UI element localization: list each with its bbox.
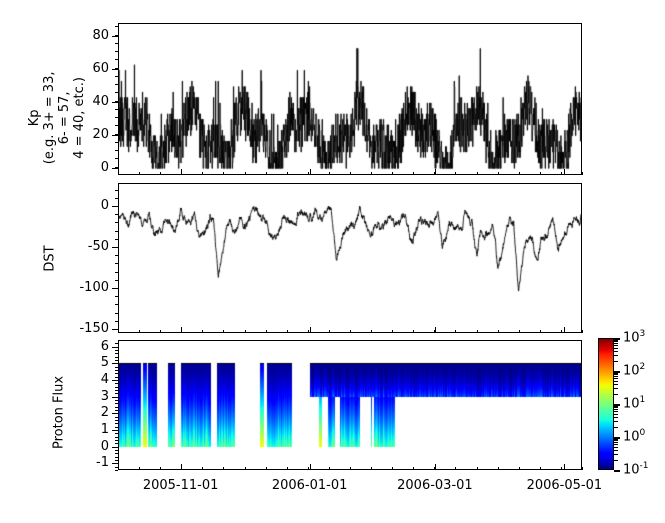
axis-tick xyxy=(115,142,118,143)
axis-tick xyxy=(115,296,118,297)
axis-tick xyxy=(266,330,267,333)
axis-tick xyxy=(115,377,118,378)
colorbar-tick-label: 100 xyxy=(623,429,645,443)
axis-tick xyxy=(115,420,118,421)
colorbar-minor-tick xyxy=(614,421,618,422)
axis-tick xyxy=(181,330,182,333)
axis-tick xyxy=(115,397,118,398)
axis-tick xyxy=(115,255,118,256)
axis-tick xyxy=(115,457,118,458)
axis-tick xyxy=(115,417,118,418)
axis-tick xyxy=(245,172,246,175)
axis-tick xyxy=(561,172,562,175)
axis-tick xyxy=(434,330,435,333)
dst-series-canvas xyxy=(119,184,581,332)
axis-tick xyxy=(115,280,118,281)
axis-tick xyxy=(455,467,456,470)
axis-tick xyxy=(115,117,118,118)
colorbar-frame xyxy=(598,338,614,470)
axis-tick-label: 4 xyxy=(101,373,109,386)
axis-tick xyxy=(564,464,565,470)
axis-tick xyxy=(115,190,118,191)
axis-tick xyxy=(115,367,118,368)
axis-tick xyxy=(308,172,309,175)
axis-tick xyxy=(350,172,351,175)
axis-tick xyxy=(329,330,330,333)
axis-tick-label: 2 xyxy=(101,406,109,419)
axis-tick xyxy=(115,35,118,36)
axis-tick xyxy=(115,313,118,314)
colorbar-minor-tick xyxy=(614,388,618,389)
kp-axis-title: Kp (e.g. 3+ = 33, 6- = 57, 4 = 40, etc.) xyxy=(28,38,88,198)
axis-tick xyxy=(115,347,118,348)
colorbar-minor-tick xyxy=(614,394,618,395)
colorbar-minor-tick xyxy=(614,439,618,440)
dst-axis-title-text: DST xyxy=(44,228,59,288)
axis-tick xyxy=(115,321,118,322)
axis-tick xyxy=(477,172,478,175)
axis-tick-label: 0 xyxy=(101,440,109,453)
axis-tick-label: -1 xyxy=(96,456,109,469)
axis-tick-label: -100 xyxy=(79,281,109,294)
proton-flux-axis-title-text: Proton Flux xyxy=(53,360,68,464)
axis-tick xyxy=(329,172,330,175)
axis-tick-label: 3 xyxy=(101,390,109,403)
axis-tick xyxy=(310,169,311,175)
axis-tick xyxy=(498,467,499,470)
axis-tick xyxy=(115,26,118,27)
axis-tick xyxy=(498,330,499,333)
axis-tick xyxy=(582,330,583,333)
axis-tick-label: 80 xyxy=(92,29,109,42)
kp-series-canvas xyxy=(119,24,581,174)
axis-tick xyxy=(115,350,118,351)
colorbar-minor-tick xyxy=(614,381,618,382)
axis-tick xyxy=(564,327,565,333)
colorbar-tick-label: 103 xyxy=(623,330,645,344)
colorbar-tick-label: 101 xyxy=(623,396,645,410)
colorbar-minor-tick xyxy=(614,376,618,377)
axis-tick xyxy=(287,330,288,333)
axis-tick xyxy=(310,464,311,470)
axis-tick xyxy=(115,380,118,381)
axis-tick xyxy=(139,330,140,333)
colorbar-minor-tick xyxy=(614,373,618,374)
axis-tick xyxy=(350,330,351,333)
axis-tick-label: 20 xyxy=(92,128,109,141)
axis-tick xyxy=(371,330,372,333)
axis-tick xyxy=(181,172,182,175)
axis-tick xyxy=(434,467,435,470)
axis-tick xyxy=(287,467,288,470)
axis-tick-label: 40 xyxy=(92,95,109,108)
axis-tick xyxy=(115,463,118,464)
colorbar-minor-tick xyxy=(614,454,618,455)
axis-tick xyxy=(498,172,499,175)
axis-tick xyxy=(115,373,118,374)
axis-tick xyxy=(287,172,288,175)
axis-tick xyxy=(115,433,118,434)
axis-tick xyxy=(115,370,118,371)
axis-tick xyxy=(115,383,118,384)
axis-tick xyxy=(118,172,119,175)
axis-tick xyxy=(115,68,118,69)
figure-root: 020406080 Kp (e.g. 3+ = 33, 6- = 57, 4 =… xyxy=(0,0,665,523)
axis-tick xyxy=(561,330,562,333)
axis-tick xyxy=(519,172,520,175)
axis-tick xyxy=(115,84,118,85)
axis-tick xyxy=(115,272,118,273)
axis-tick-label: 0 xyxy=(101,161,109,174)
colorbar-minor-tick xyxy=(614,427,618,428)
axis-tick xyxy=(582,172,583,175)
colorbar-tick-label: 10-1 xyxy=(623,462,649,476)
proton-flux-spectrogram-canvas xyxy=(119,341,581,469)
axis-tick xyxy=(115,423,118,424)
axis-tick xyxy=(350,467,351,470)
colorbar-minor-tick xyxy=(614,340,618,341)
proton-flux-axis-title: Proton Flux xyxy=(53,360,68,464)
axis-tick xyxy=(392,172,393,175)
colorbar-minor-tick xyxy=(614,406,618,407)
colorbar-minor-tick xyxy=(614,450,618,451)
axis-tick xyxy=(413,330,414,333)
axis-tick xyxy=(540,330,541,333)
axis-tick xyxy=(181,467,182,470)
axis-tick-label: -150 xyxy=(79,322,109,335)
axis-tick xyxy=(413,172,414,175)
axis-tick xyxy=(266,467,267,470)
axis-tick xyxy=(115,101,118,102)
axis-tick xyxy=(115,427,118,428)
colorbar-minor-tick xyxy=(614,348,618,349)
axis-tick xyxy=(308,330,309,333)
axis-tick xyxy=(371,172,372,175)
axis-tick xyxy=(115,109,118,110)
colorbar-minor-tick xyxy=(614,447,618,448)
axis-tick xyxy=(115,363,118,364)
x-axis-tick-label: 2006-01-01 xyxy=(260,479,360,492)
kp-axis-title-line-1: (e.g. 3+ = 33, xyxy=(43,38,58,198)
colorbar-minor-tick xyxy=(614,417,618,418)
colorbar-minor-tick xyxy=(614,343,618,344)
colorbar-tick-label: 102 xyxy=(623,363,645,377)
kp-axis-title-line-3: 4 = 40, etc.) xyxy=(73,38,88,198)
axis-tick xyxy=(477,330,478,333)
axis-tick xyxy=(115,407,118,408)
axis-tick xyxy=(392,467,393,470)
axis-tick xyxy=(139,172,140,175)
axis-tick xyxy=(115,390,118,391)
axis-tick xyxy=(519,467,520,470)
axis-tick xyxy=(115,125,118,126)
axis-tick xyxy=(115,59,118,60)
axis-tick xyxy=(115,239,118,240)
axis-tick xyxy=(115,214,118,215)
axis-tick xyxy=(115,92,118,93)
axis-tick-label: 1 xyxy=(101,423,109,436)
axis-tick xyxy=(160,467,161,470)
axis-tick xyxy=(202,467,203,470)
colorbar-minor-tick xyxy=(614,378,618,379)
colorbar-minor-tick xyxy=(614,361,618,362)
axis-tick-label: 0 xyxy=(101,199,109,212)
axis-tick xyxy=(477,467,478,470)
axis-tick xyxy=(115,470,118,471)
axis-tick xyxy=(223,330,224,333)
axis-tick xyxy=(115,263,118,264)
axis-tick xyxy=(245,467,246,470)
colorbar-minor-tick xyxy=(614,444,618,445)
axis-tick xyxy=(115,410,118,411)
axis-tick xyxy=(245,330,246,333)
axis-tick xyxy=(223,172,224,175)
axis-tick xyxy=(115,437,118,438)
axis-tick xyxy=(115,403,118,404)
axis-tick xyxy=(115,51,118,52)
colorbar-tick xyxy=(614,470,620,472)
axis-tick xyxy=(392,330,393,333)
axis-tick xyxy=(112,288,118,289)
axis-tick xyxy=(115,447,118,448)
axis-tick-label: -50 xyxy=(88,240,109,253)
x-axis-tick-label: 2006-03-01 xyxy=(385,479,485,492)
kp-axis-title-line-0: Kp xyxy=(28,38,43,198)
axis-tick xyxy=(266,172,267,175)
axis-tick xyxy=(115,76,118,77)
axis-tick xyxy=(115,443,118,444)
axis-tick xyxy=(115,453,118,454)
axis-tick xyxy=(115,400,118,401)
axis-tick xyxy=(223,467,224,470)
axis-tick xyxy=(115,430,118,431)
axis-tick xyxy=(582,467,583,470)
colorbar-minor-tick xyxy=(614,409,618,410)
axis-tick xyxy=(115,460,118,461)
axis-tick xyxy=(308,467,309,470)
axis-tick xyxy=(118,467,119,470)
colorbar-minor-tick xyxy=(614,355,618,356)
x-axis-tick-label: 2005-11-01 xyxy=(131,479,231,492)
colorbar-minor-tick xyxy=(614,351,618,352)
dst-axis-title: DST xyxy=(44,228,59,288)
axis-tick xyxy=(115,134,118,135)
kp-axis-title-line-2: 6- = 57, xyxy=(58,38,73,198)
axis-tick xyxy=(455,330,456,333)
axis-tick xyxy=(564,169,565,175)
axis-tick xyxy=(115,393,118,394)
axis-tick xyxy=(112,206,118,207)
axis-tick xyxy=(139,467,140,470)
axis-tick xyxy=(115,304,118,305)
axis-tick xyxy=(115,360,118,361)
axis-tick xyxy=(329,467,330,470)
axis-tick xyxy=(115,167,118,168)
axis-tick xyxy=(115,440,118,441)
axis-tick xyxy=(540,172,541,175)
axis-tick xyxy=(160,330,161,333)
axis-tick xyxy=(115,150,118,151)
axis-tick-label: 60 xyxy=(92,62,109,75)
axis-tick xyxy=(118,330,119,333)
axis-tick xyxy=(115,231,118,232)
colorbar-minor-tick xyxy=(614,411,618,412)
x-axis-tick-label: 2006-05-01 xyxy=(514,479,614,492)
axis-tick xyxy=(115,353,118,354)
axis-tick xyxy=(115,198,118,199)
axis-tick xyxy=(115,387,118,388)
axis-tick xyxy=(434,172,435,175)
axis-tick xyxy=(202,172,203,175)
colorbar-minor-tick xyxy=(614,442,618,443)
colorbar-minor-tick xyxy=(614,345,618,346)
axis-tick xyxy=(561,467,562,470)
axis-tick xyxy=(455,172,456,175)
axis-tick xyxy=(115,43,118,44)
axis-tick xyxy=(115,222,118,223)
axis-tick xyxy=(115,413,118,414)
axis-tick xyxy=(115,357,118,358)
axis-tick xyxy=(115,158,118,159)
axis-tick-label: 6 xyxy=(101,340,109,353)
colorbar-minor-tick xyxy=(614,414,618,415)
axis-tick xyxy=(160,172,161,175)
axis-tick xyxy=(115,450,118,451)
axis-tick xyxy=(413,467,414,470)
colorbar-minor-tick xyxy=(614,460,618,461)
axis-tick xyxy=(540,467,541,470)
axis-tick xyxy=(112,247,118,248)
axis-tick xyxy=(519,330,520,333)
axis-tick xyxy=(115,343,118,344)
axis-tick-label: 5 xyxy=(101,356,109,369)
colorbar-minor-tick xyxy=(614,384,618,385)
axis-tick xyxy=(202,330,203,333)
axis-tick xyxy=(371,467,372,470)
axis-tick xyxy=(310,327,311,333)
